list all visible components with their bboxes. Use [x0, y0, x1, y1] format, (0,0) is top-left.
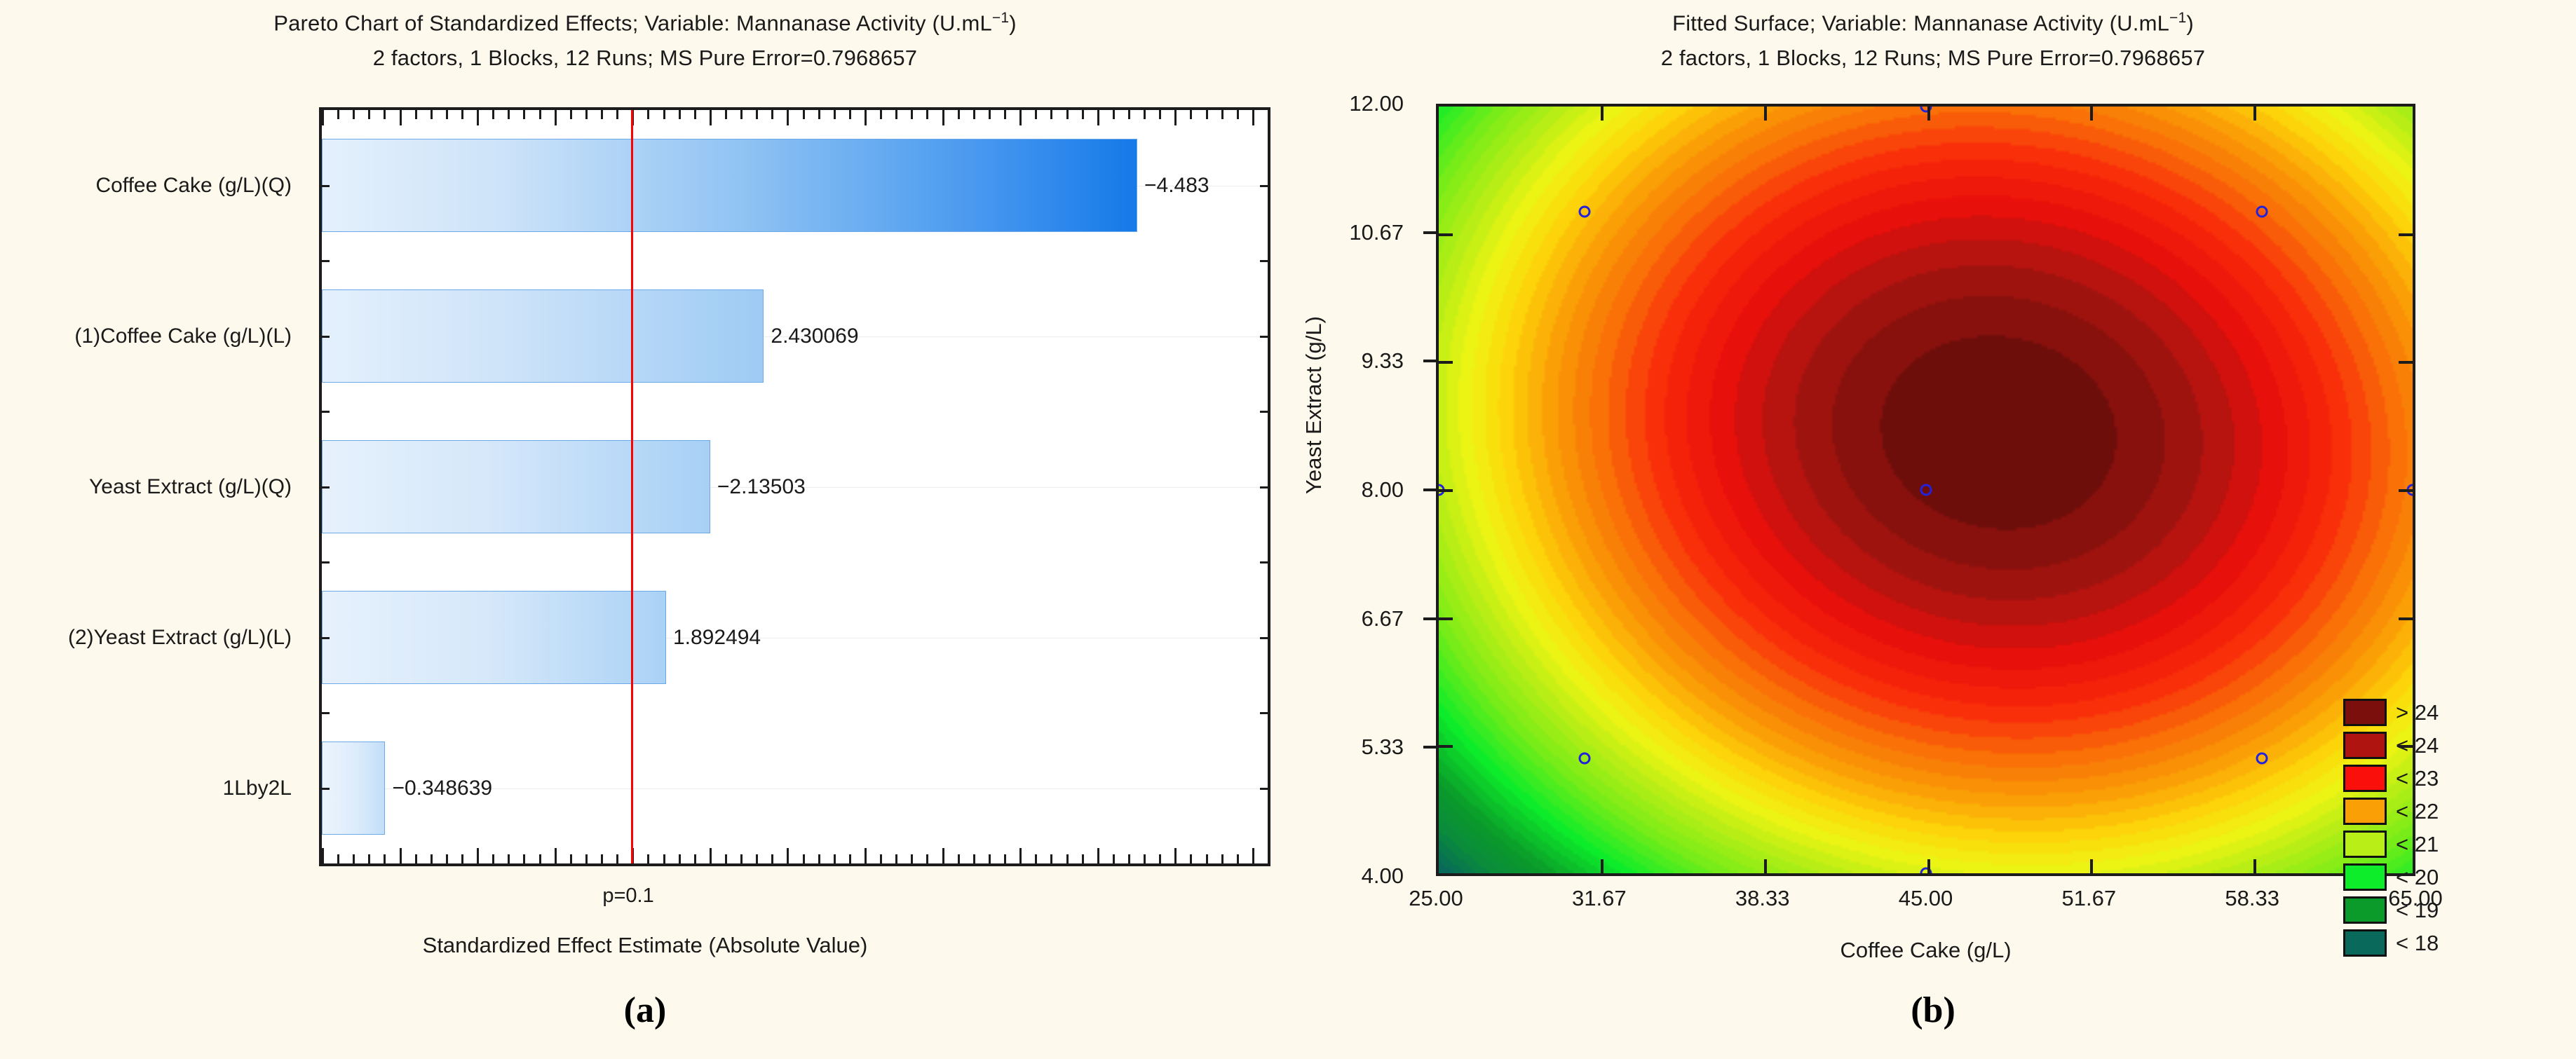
pareto-x-tick — [523, 854, 525, 863]
pareto-category-label: Yeast Extract (g/L)(Q) — [89, 475, 292, 499]
pareto-x-tick — [1050, 110, 1052, 119]
pareto-x-tick — [461, 854, 463, 863]
pareto-x-tick — [818, 854, 820, 863]
pareto-x-tick — [942, 848, 944, 863]
pareto-y-tick — [322, 486, 330, 488]
legend-swatch — [2343, 765, 2387, 792]
pareto-x-tick — [368, 110, 370, 119]
pareto-x-tick — [1159, 854, 1161, 863]
pareto-x-tick — [865, 848, 867, 863]
pareto-x-tick — [771, 854, 773, 863]
surface-y-tick-mark — [1423, 231, 1436, 234]
surface-y-tick-mark — [1423, 746, 1436, 749]
pareto-x-tick — [818, 110, 820, 119]
pareto-x-tick — [400, 110, 402, 125]
subfigure-label-b: (b) — [1290, 990, 2576, 1031]
pareto-x-tick — [492, 854, 494, 863]
pareto-bar[interactable] — [322, 742, 385, 835]
surface-x-tick-mark — [1764, 859, 1767, 873]
pareto-x-tick — [1066, 854, 1069, 863]
surface-y-tick-mark-inner — [1439, 745, 1453, 748]
pareto-x-tick — [911, 854, 913, 863]
pareto-x-tick — [1237, 110, 1239, 119]
surface-x-axis-title: Coffee Cake (g/L) — [1436, 938, 2415, 963]
surface-x-tick-mark — [1764, 107, 1767, 121]
pareto-bar[interactable] — [322, 591, 666, 684]
pareto-x-tick — [942, 110, 944, 125]
pareto-x-tick — [647, 854, 649, 863]
surface-y-tick-mark-inner — [1439, 361, 1453, 364]
surface-x-tick-mark — [1927, 859, 1930, 873]
surface-y-tick-mark-inner — [2399, 489, 2413, 492]
legend-swatch — [2343, 699, 2387, 726]
pareto-x-tick — [570, 110, 572, 119]
pareto-x-tick — [368, 854, 370, 863]
contour-plot-area — [1436, 104, 2415, 876]
pareto-x-tick — [1174, 110, 1177, 125]
legend-item[interactable]: < 22 — [2343, 795, 2439, 828]
pareto-x-tick — [880, 854, 882, 863]
legend-item[interactable]: < 20 — [2343, 861, 2439, 894]
legend-item[interactable]: < 21 — [2343, 828, 2439, 861]
pareto-x-tick — [989, 110, 991, 119]
pareto-x-tick — [322, 110, 324, 125]
surface-y-tick-label: 6.67 — [1362, 606, 1404, 631]
pareto-x-tick — [989, 854, 991, 863]
pareto-x-tick — [1097, 848, 1099, 863]
pareto-x-tick — [1221, 110, 1223, 119]
pareto-x-tick — [1019, 848, 1022, 863]
pareto-title-line1: Pareto Chart of Standardized Effects; Va… — [0, 10, 1290, 36]
panel-fitted-surface: Fitted Surface; Variable: Mannanase Acti… — [1290, 0, 2576, 1059]
design-points-layer — [1439, 107, 2413, 873]
pareto-x-tick — [710, 110, 712, 125]
pareto-y-tick — [322, 336, 330, 338]
pareto-category-label: (1)Coffee Cake (g/L)(L) — [74, 324, 292, 348]
pareto-x-tick — [803, 110, 805, 119]
pareto-x-tick — [1252, 110, 1254, 125]
pareto-x-tick — [740, 854, 743, 863]
pareto-x-tick — [880, 110, 882, 119]
pareto-x-tick — [415, 110, 417, 119]
pareto-x-tick — [973, 854, 975, 863]
pareto-x-tick — [679, 854, 681, 863]
pareto-y-tick — [1260, 185, 1268, 187]
pareto-x-tick — [585, 110, 588, 119]
surface-y-tick-mark-inner — [2399, 745, 2413, 748]
surface-subtitle: 2 factors, 1 Blocks, 12 Runs; MS Pure Er… — [1290, 46, 2576, 71]
surface-y-tick-mark — [1423, 488, 1436, 491]
pareto-title-main: Pareto Chart of Standardized Effects; Va… — [273, 11, 992, 35]
surface-x-axis-ticks: 25.0031.6738.3345.0051.6758.3365.00 — [1436, 886, 2415, 917]
design-point-marker — [1579, 206, 1591, 218]
design-point-marker — [1920, 484, 1932, 496]
pareto-x-tick — [616, 854, 618, 863]
pareto-x-tick — [1190, 110, 1192, 119]
pareto-x-tick — [1082, 854, 1084, 863]
pareto-y-tick — [322, 411, 330, 413]
pareto-x-tick — [1268, 854, 1270, 863]
pareto-x-tick — [523, 110, 525, 119]
pareto-x-tick — [849, 854, 851, 863]
pareto-x-tick — [1128, 854, 1130, 863]
pareto-x-tick — [400, 848, 402, 863]
legend-item[interactable]: < 24 — [2343, 729, 2439, 762]
subfigure-label-a: (a) — [0, 990, 1290, 1031]
surface-x-tick-label: 51.67 — [2062, 886, 2117, 911]
pareto-y-tick — [322, 637, 330, 639]
pareto-x-tick — [353, 854, 355, 863]
surface-x-tick-mark — [1927, 107, 1930, 121]
pareto-x-tick — [1035, 854, 1037, 863]
surface-x-tick-mark — [2090, 859, 2093, 873]
pareto-x-tick — [803, 854, 805, 863]
pareto-x-tick — [1035, 110, 1037, 119]
surface-x-tick-label: 45.00 — [1899, 886, 1953, 911]
pareto-x-tick — [834, 854, 836, 863]
pareto-x-tick — [849, 110, 851, 119]
pareto-category-axis: Coffee Cake (g/L)(Q)(1)Coffee Cake (g/L)… — [0, 107, 309, 866]
pareto-y-tick — [1260, 411, 1268, 413]
legend-item[interactable]: > 24 — [2343, 696, 2439, 729]
legend-swatch — [2343, 896, 2387, 924]
pareto-category-label: (2)Yeast Extract (g/L)(L) — [68, 626, 292, 650]
pareto-x-tick — [1206, 854, 1208, 863]
legend-item[interactable]: < 23 — [2343, 762, 2439, 795]
pareto-y-tick — [1260, 260, 1268, 262]
pareto-x-tick — [973, 110, 975, 119]
pareto-x-tick — [771, 110, 773, 119]
surface-y-tick-label: 4.00 — [1362, 863, 1404, 889]
legend-swatch — [2343, 863, 2387, 891]
pareto-x-tick — [1066, 110, 1069, 119]
surface-x-tick-mark — [2253, 859, 2256, 873]
pareto-x-tick — [555, 848, 557, 863]
pareto-x-tick — [834, 110, 836, 119]
pareto-x-tick — [740, 110, 743, 119]
surface-title-superscript: −1 — [2169, 10, 2186, 26]
surface-x-tick-label: 31.67 — [1572, 886, 1627, 911]
pareto-x-tick — [725, 110, 727, 119]
pareto-x-tick — [958, 110, 960, 119]
p-value-label: p=0.1 — [0, 884, 1273, 908]
surface-y-tick-label: 8.00 — [1362, 477, 1404, 503]
surface-x-tick-mark — [2090, 107, 2093, 121]
pareto-subtitle: 2 factors, 1 Blocks, 12 Runs; MS Pure Er… — [0, 46, 1290, 71]
pareto-x-tick — [601, 110, 603, 119]
pareto-x-tick — [477, 110, 479, 125]
pareto-x-tick — [446, 854, 448, 863]
pareto-title: Pareto Chart of Standardized Effects; Va… — [0, 10, 1290, 71]
pareto-x-tick — [492, 110, 494, 119]
pareto-y-tick — [322, 712, 330, 714]
pareto-x-tick — [694, 110, 696, 119]
pareto-x-tick — [647, 110, 649, 119]
pareto-x-tick — [926, 110, 928, 119]
contour-legend: > 24< 24< 23< 22< 21< 20< 19< 18 — [2343, 696, 2439, 959]
legend-item[interactable]: < 18 — [2343, 927, 2439, 959]
legend-label: < 22 — [2396, 799, 2439, 824]
surface-y-tick-mark — [1423, 360, 1436, 362]
pareto-x-tick — [710, 848, 712, 863]
pareto-x-tick — [415, 854, 417, 863]
surface-x-tick-label: 38.33 — [1735, 886, 1790, 911]
legend-swatch — [2343, 929, 2387, 957]
pareto-x-tick — [1221, 854, 1223, 863]
legend-label: < 18 — [2396, 931, 2439, 956]
pareto-x-tick — [895, 110, 897, 119]
pareto-x-tick — [1190, 854, 1192, 863]
design-point-marker — [2256, 206, 2267, 218]
pareto-x-tick — [787, 848, 789, 863]
pareto-x-tick — [431, 854, 433, 863]
pareto-x-tick — [1050, 854, 1052, 863]
pareto-bar-value: −2.13503 — [717, 475, 806, 499]
pareto-bar[interactable] — [322, 440, 710, 533]
legend-swatch — [2343, 831, 2387, 858]
pareto-y-tick — [322, 788, 330, 790]
pareto-y-tick — [322, 561, 330, 563]
legend-label: < 21 — [2396, 832, 2439, 857]
pareto-x-tick — [1082, 110, 1084, 119]
pareto-x-tick — [508, 854, 510, 863]
pareto-x-tick — [353, 110, 355, 119]
pareto-x-tick — [601, 854, 603, 863]
pareto-title-superscript: −1 — [992, 10, 1009, 26]
pareto-x-tick — [555, 110, 557, 125]
pareto-x-tick — [1252, 848, 1254, 863]
pareto-x-tick — [539, 854, 541, 863]
pareto-y-tick — [1260, 561, 1268, 563]
pareto-x-tick — [787, 110, 789, 125]
pareto-title-close-paren: ) — [1009, 11, 1017, 35]
surface-y-tick-mark-inner — [1439, 489, 1453, 492]
pareto-x-tick — [1237, 854, 1239, 863]
pareto-x-tick — [663, 854, 665, 863]
pareto-plot-area: −4.4832.430069−2.135031.892494−0.348639 — [319, 107, 1270, 866]
legend-label: > 24 — [2396, 700, 2439, 725]
pareto-y-tick — [1260, 712, 1268, 714]
pareto-x-tick — [1004, 110, 1006, 119]
pareto-x-tick — [446, 110, 448, 119]
pareto-x-tick — [477, 848, 479, 863]
pareto-x-tick — [1004, 854, 1006, 863]
pareto-x-axis-title: Standardized Effect Estimate (Absolute V… — [0, 933, 1290, 958]
pareto-bar-value: 1.892494 — [673, 626, 761, 650]
pareto-x-tick — [1097, 110, 1099, 125]
pareto-x-tick — [679, 110, 681, 119]
pareto-x-tick — [1113, 854, 1115, 863]
legend-swatch — [2343, 732, 2387, 759]
legend-swatch — [2343, 798, 2387, 825]
pareto-x-tick — [384, 110, 386, 119]
pareto-x-tick — [322, 848, 324, 863]
surface-y-tick-mark-inner — [1439, 233, 1453, 236]
pareto-x-tick — [926, 854, 928, 863]
panel-pareto-chart: Pareto Chart of Standardized Effects; Va… — [0, 0, 1290, 1059]
pareto-bar-value: −0.348639 — [392, 777, 492, 800]
pareto-x-tick — [756, 854, 758, 863]
surface-y-tick-label: 9.33 — [1362, 348, 1404, 374]
pareto-y-tick — [1260, 637, 1268, 639]
legend-item[interactable]: < 19 — [2343, 894, 2439, 927]
pareto-x-tick — [616, 110, 618, 119]
pareto-x-tick — [1113, 110, 1115, 119]
pareto-x-tick — [539, 110, 541, 119]
pareto-bar[interactable] — [322, 289, 764, 383]
p-value-reference-line — [631, 110, 633, 863]
pareto-x-tick — [508, 110, 510, 119]
pareto-y-tick — [322, 260, 330, 262]
pareto-x-tick — [585, 854, 588, 863]
pareto-bar[interactable] — [322, 139, 1137, 232]
surface-x-tick-mark — [2253, 107, 2256, 121]
pareto-x-tick — [911, 110, 913, 119]
pareto-x-tick — [570, 854, 572, 863]
surface-title: Fitted Surface; Variable: Mannanase Acti… — [1290, 10, 2576, 71]
surface-x-tick-label: 58.33 — [2225, 886, 2279, 911]
pareto-x-tick — [431, 110, 433, 119]
pareto-category-label: Coffee Cake (g/L)(Q) — [95, 174, 292, 198]
surface-y-tick-mark — [1423, 617, 1436, 620]
pareto-x-tick — [725, 854, 727, 863]
pareto-y-tick — [1260, 336, 1268, 338]
pareto-x-tick — [337, 854, 339, 863]
surface-y-tick-mark-inner — [2399, 233, 2413, 236]
pareto-x-tick — [1159, 110, 1161, 119]
surface-y-tick-label: 5.33 — [1362, 735, 1404, 760]
pareto-y-tick — [1260, 788, 1268, 790]
pareto-x-tick — [1128, 110, 1130, 119]
pareto-x-tick — [756, 110, 758, 119]
pareto-x-tick — [1174, 848, 1177, 863]
pareto-x-tick — [663, 110, 665, 119]
surface-y-tick-label: 10.67 — [1349, 220, 1404, 245]
surface-x-tick-mark — [1601, 859, 1604, 873]
pareto-x-tick — [1019, 110, 1022, 125]
surface-y-tick-label: 12.00 — [1349, 91, 1404, 116]
surface-y-tick-mark-inner — [2399, 617, 2413, 620]
surface-x-tick-label: 25.00 — [1409, 886, 1463, 911]
pareto-x-tick — [958, 854, 960, 863]
surface-y-tick-mark-inner — [1439, 617, 1453, 620]
surface-y-tick-mark-inner — [2399, 361, 2413, 364]
legend-label: < 23 — [2396, 766, 2439, 791]
surface-title-line1: Fitted Surface; Variable: Mannanase Acti… — [1290, 10, 2576, 36]
pareto-x-tick — [694, 854, 696, 863]
surface-x-tick-mark — [1601, 107, 1604, 121]
surface-title-close-paren: ) — [2186, 11, 2194, 35]
design-point-marker — [2256, 752, 2267, 764]
pareto-bar-value: 2.430069 — [771, 324, 858, 348]
legend-label: < 20 — [2396, 865, 2439, 890]
surface-title-main: Fitted Surface; Variable: Mannanase Acti… — [1672, 11, 2169, 35]
pareto-bar-value: −4.483 — [1144, 174, 1209, 198]
pareto-x-tick — [1268, 110, 1270, 119]
pareto-x-tick — [337, 110, 339, 119]
pareto-category-label: 1Lby2L — [223, 777, 292, 800]
pareto-x-tick — [1144, 854, 1146, 863]
figure-container: Pareto Chart of Standardized Effects; Va… — [0, 0, 2576, 1059]
pareto-x-tick — [865, 110, 867, 125]
pareto-x-tick — [384, 854, 386, 863]
pareto-x-tick — [1144, 110, 1146, 119]
pareto-x-tick — [461, 110, 463, 119]
pareto-y-tick — [1260, 486, 1268, 488]
pareto-y-tick — [322, 185, 330, 187]
legend-label: < 19 — [2396, 898, 2439, 923]
pareto-x-tick — [1206, 110, 1208, 119]
pareto-x-tick — [895, 854, 897, 863]
surface-y-axis-title: Yeast Extract (g/L) — [1301, 244, 1327, 566]
design-point-marker — [1579, 752, 1591, 764]
